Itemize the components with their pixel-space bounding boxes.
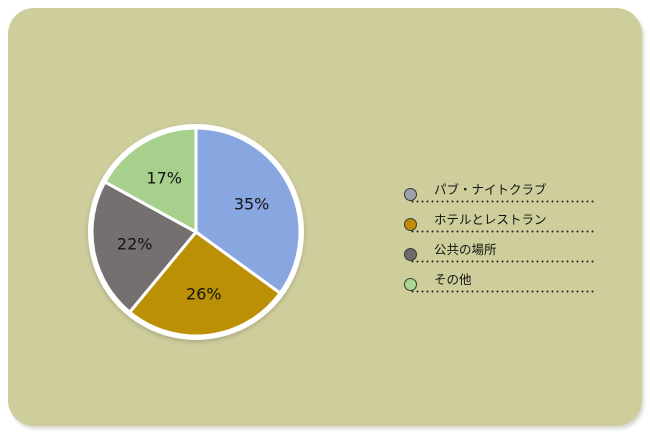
pie-slices-group bbox=[92, 128, 300, 336]
legend-item-label: ホテルとレストラン bbox=[434, 209, 547, 228]
legend-leader-line bbox=[410, 200, 594, 203]
pie-slice-data-label: 17% bbox=[146, 169, 182, 188]
pie-slice-data-label: 35% bbox=[234, 194, 270, 213]
chart-panel: 35%26%22%17% パブ・ナイトクラブ ホテルとレストラン 公共の場所 そ… bbox=[8, 8, 642, 426]
legend-item-public-places[interactable]: 公共の場所 bbox=[404, 240, 594, 270]
legend-leader-line bbox=[410, 290, 594, 293]
legend-item-label: パブ・ナイトクラブ bbox=[434, 179, 547, 198]
legend-leader-line bbox=[410, 230, 594, 233]
legend-item-other[interactable]: その他 bbox=[404, 270, 594, 300]
legend-item-pub-nightclub[interactable]: パブ・ナイトクラブ bbox=[404, 180, 594, 210]
legend-item-label: その他 bbox=[434, 269, 472, 288]
legend-item-hotels-restaurants[interactable]: ホテルとレストラン bbox=[404, 210, 594, 240]
legend-leader-line bbox=[410, 260, 594, 263]
legend-item-label: 公共の場所 bbox=[434, 239, 497, 258]
pie-slice-data-label: 22% bbox=[117, 234, 153, 253]
chart-canvas: 35%26%22%17% パブ・ナイトクラブ ホテルとレストラン 公共の場所 そ… bbox=[0, 0, 650, 434]
pie-slice-data-label: 26% bbox=[186, 284, 222, 303]
pie-chart: 35%26%22%17% bbox=[88, 124, 304, 340]
pie-slices-svg bbox=[88, 124, 304, 340]
chart-legend: パブ・ナイトクラブ ホテルとレストラン 公共の場所 その他 bbox=[404, 180, 594, 300]
